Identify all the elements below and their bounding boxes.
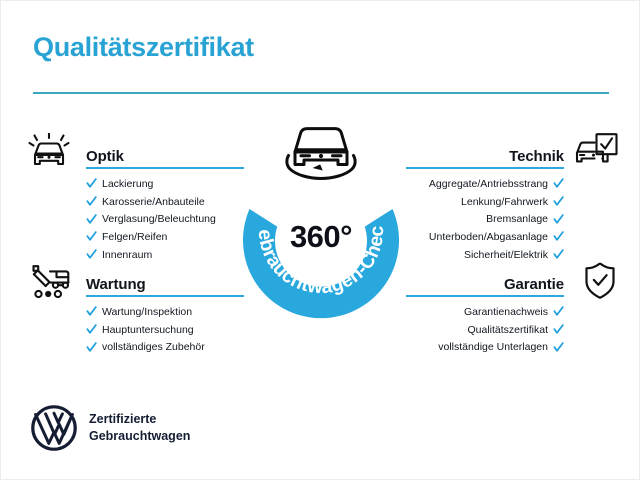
- list-item: Sicherheit/Elektrik: [406, 248, 564, 263]
- list-item: Aggregate/Antriebsstrang: [406, 177, 564, 192]
- list-item-label: Wartung/Inspektion: [102, 305, 192, 320]
- list-item: Hauptuntersuchung: [86, 323, 244, 338]
- check-icon: [553, 306, 564, 317]
- car-checkbox-icon: [571, 132, 619, 172]
- list-item-label: Sicherheit/Elektrik: [464, 248, 548, 263]
- section-garantie-title: Garantie: [504, 276, 564, 293]
- section-garantie: Garantie Garantienachweis Qualitätszerti…: [406, 271, 564, 358]
- section-wartung-header: Wartung: [86, 271, 244, 297]
- volkswagen-logo: [31, 405, 77, 451]
- list-item: Verglasung/Beleuchtung: [86, 212, 244, 227]
- list-item-label: Innenraum: [102, 248, 152, 263]
- check-icon: [86, 324, 97, 335]
- check-icon: [553, 342, 564, 353]
- section-optik-rule: [86, 167, 244, 169]
- section-technik-title: Technik: [509, 148, 564, 165]
- section-optik-header: Optik: [86, 143, 244, 169]
- list-item: Lackierung: [86, 177, 244, 192]
- list-item: Bremsanlage: [406, 212, 564, 227]
- shield-check-icon: [576, 261, 624, 301]
- check-icon: [553, 178, 564, 189]
- check-icon: [553, 214, 564, 225]
- check-icon: [553, 196, 564, 207]
- car-rotate-360-icon: [273, 119, 369, 185]
- list-item-label: Lackierung: [102, 177, 153, 192]
- list-item-label: Unterboden/Abgasanlage: [429, 230, 548, 245]
- list-item-label: vollständige Unterlagen: [438, 340, 548, 355]
- check-icon: [86, 214, 97, 225]
- list-item: Qualitätszertifikat: [406, 323, 564, 338]
- check-icon: [553, 324, 564, 335]
- list-item: Wartung/Inspektion: [86, 305, 244, 320]
- list-item: Felgen/Reifen: [86, 230, 244, 245]
- check-icon: [86, 342, 97, 353]
- list-item: Karosserie/Anbauteile: [86, 195, 244, 210]
- list-item-label: vollständiges Zubehör: [102, 340, 205, 355]
- section-technik-rule: [406, 167, 564, 169]
- list-item-label: Garantienachweis: [464, 305, 548, 320]
- section-garantie-rule: [406, 295, 564, 297]
- footer-brand-lockup: Zertifizierte Gebrauchtwagen: [31, 405, 190, 451]
- section-wartung-list: Wartung/Inspektion Hauptuntersuchung vol…: [86, 305, 244, 356]
- footer-text: Zertifizierte Gebrauchtwagen: [89, 411, 190, 445]
- list-item: Lenkung/Fahrwerk: [406, 195, 564, 210]
- list-item: vollständiges Zubehör: [86, 340, 244, 355]
- list-item: vollständige Unterlagen: [406, 340, 564, 355]
- check-icon: [553, 231, 564, 242]
- list-item-label: Qualitätszertifikat: [467, 323, 548, 338]
- section-technik-header: Technik: [406, 143, 564, 169]
- section-garantie-list: Garantienachweis Qualitätszertifikat vol…: [406, 305, 564, 356]
- pen-car-service-icon: [25, 263, 73, 303]
- section-wartung-title: Wartung: [86, 276, 146, 293]
- badge-center-label: 360°: [233, 219, 409, 255]
- section-garantie-header: Garantie: [406, 271, 564, 297]
- check-icon: [86, 306, 97, 317]
- list-item-label: Bremsanlage: [486, 212, 548, 227]
- page-title: Qualitätszertifikat: [33, 33, 254, 63]
- header-divider: [33, 92, 609, 94]
- check-icon: [86, 249, 97, 260]
- list-item: Innenraum: [86, 248, 244, 263]
- footer-line-2: Gebrauchtwagen: [89, 428, 190, 445]
- list-item-label: Verglasung/Beleuchtung: [102, 212, 216, 227]
- list-item-label: Karosserie/Anbauteile: [102, 195, 205, 210]
- section-wartung-rule: [86, 295, 244, 297]
- list-item-label: Hauptuntersuchung: [102, 323, 194, 338]
- badge-360-gebrauchtwagen-check: Gebrauchtwagen-Check 360°: [233, 119, 409, 319]
- car-shine-icon: [25, 133, 73, 173]
- footer-line-1: Zertifizierte: [89, 411, 190, 428]
- list-item: Unterboden/Abgasanlage: [406, 230, 564, 245]
- check-icon: [86, 231, 97, 242]
- section-optik-title: Optik: [86, 148, 124, 165]
- section-optik-list: Lackierung Karosserie/Anbauteile Verglas…: [86, 177, 244, 263]
- list-item: Garantienachweis: [406, 305, 564, 320]
- check-icon: [553, 249, 564, 260]
- section-technik: Technik Aggregate/Antriebsstrang Lenkung…: [406, 143, 564, 266]
- list-item-label: Aggregate/Antriebsstrang: [429, 177, 548, 192]
- section-wartung: Wartung Wartung/Inspektion Hauptuntersuc…: [86, 271, 244, 358]
- section-optik: Optik Lackierung Karosserie/Anbauteile: [86, 143, 244, 266]
- section-technik-list: Aggregate/Antriebsstrang Lenkung/Fahrwer…: [406, 177, 564, 263]
- certificate-canvas: Qualitätszertifikat Optik Lackierung Kar…: [0, 0, 640, 480]
- list-item-label: Lenkung/Fahrwerk: [461, 195, 548, 210]
- list-item-label: Felgen/Reifen: [102, 230, 167, 245]
- check-icon: [86, 196, 97, 207]
- check-icon: [86, 178, 97, 189]
